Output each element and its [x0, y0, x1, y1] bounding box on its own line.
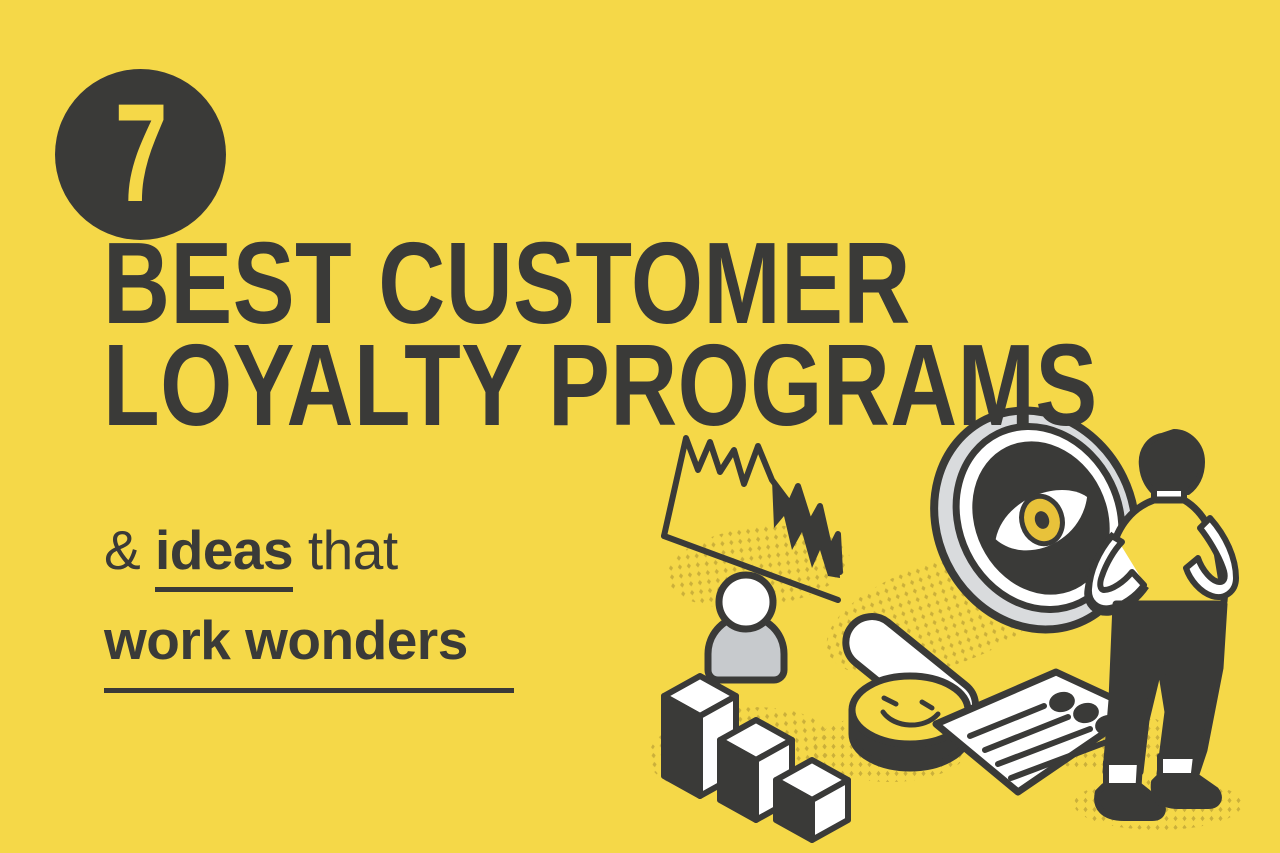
- subtitle-emphasis: ideas: [155, 519, 293, 592]
- subtitle-plain: that: [308, 519, 398, 581]
- person-hair: [1142, 432, 1202, 492]
- bar-chart-bar-3: [776, 760, 848, 840]
- user-avatar-icon: [708, 575, 784, 680]
- page-subtitle: & ideas that work wonders: [104, 508, 514, 693]
- number-badge-value: 7: [82, 67, 198, 238]
- headline-line-1: BEST CUSTOMER: [103, 232, 1098, 334]
- number-badge: 7: [55, 69, 226, 240]
- page-title: BEST CUSTOMER LOYALTY PROGRAMS: [103, 232, 1280, 436]
- person-shoe-back: [1154, 776, 1219, 806]
- subtitle-ampersand: &: [104, 519, 140, 581]
- subtitle-line-1: & ideas that: [104, 508, 514, 592]
- subtitle-line-2: work wonders: [104, 598, 514, 693]
- illustration-scene: [640, 400, 1280, 853]
- person-trousers: [1106, 604, 1224, 774]
- poster-canvas: 7 BEST CUSTOMER LOYALTY PROGRAMS & ideas…: [0, 0, 1280, 853]
- headline-line-2: LOYALTY PROGRAMS: [103, 334, 1098, 436]
